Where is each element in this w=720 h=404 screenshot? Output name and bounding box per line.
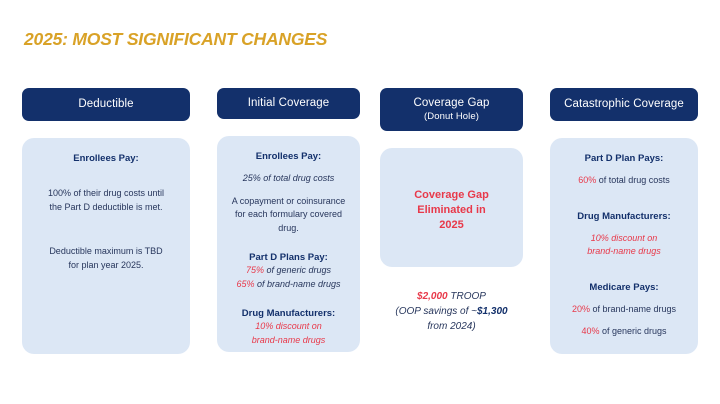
columns-container: Deductible Enrollees Pay: 100% of their … (0, 88, 720, 354)
spacer (558, 223, 690, 232)
cat-mfr-line-2: brand-name drugs (558, 245, 690, 259)
column-header-label: Deductible (78, 98, 133, 110)
troop-line: $2,000 TROOP (380, 289, 523, 304)
deductible-line-2: the Part D deductible is met. (30, 201, 182, 215)
section-title-drug-manufacturers: Drug Manufacturers: (225, 307, 352, 320)
cat-plan-total: 60% of total drug costs (558, 174, 690, 188)
coverage-gap-banner-line-2: Eliminated in (388, 203, 515, 218)
column-header-label: Initial Coverage (248, 97, 330, 109)
column-header-label: Coverage Gap (414, 97, 490, 109)
cat-medicare-brand: 20% of brand-name drugs (558, 303, 690, 317)
section-title-enrollees-pay: Enrollees Pay: (30, 152, 182, 165)
coverage-gap-footer: $2,000 TROOP (OOP savings of ~$1,300 fro… (380, 289, 523, 334)
pct-generic-text: of generic drugs (599, 326, 666, 336)
initial-enrollees-line-3: for each formulary covered (225, 208, 352, 222)
pct-generic-text: of generic drugs (264, 265, 331, 275)
spacer (30, 214, 182, 236)
pct-brand-value: 20% (572, 304, 590, 314)
spacer (225, 186, 352, 195)
spacer (558, 259, 690, 281)
column-header-label: Catastrophic Coverage (564, 98, 684, 110)
column-coverage-gap: Coverage Gap (Donut Hole) Coverage Gap E… (380, 88, 523, 334)
spacer (558, 165, 690, 174)
slide-title: 2025: MOST SIGNIFICANT CHANGES (24, 29, 327, 50)
troop-label: TROOP (448, 291, 486, 302)
spacer (30, 236, 182, 245)
pct-brand-text: of brand-name drugs (254, 279, 340, 289)
initial-enrollees-line-2: A copayment or coinsurance (225, 195, 352, 209)
initial-mfr-line-1: 10% discount on (225, 320, 352, 334)
pct-total-value: 60% (578, 175, 596, 185)
cat-medicare-generic: 40% of generic drugs (558, 325, 690, 339)
spacer (558, 316, 690, 325)
coverage-gap-banner-line-3: 2025 (388, 218, 515, 233)
section-title-medicare-pays: Medicare Pays: (558, 281, 690, 294)
initial-plans-brand: 65% of brand-name drugs (225, 278, 352, 292)
slide-canvas: 2025: MOST SIGNIFICANT CHANGES Deductibl… (0, 0, 720, 404)
spacer (558, 188, 690, 210)
pct-brand-value: 65% (236, 279, 254, 289)
cat-mfr-line-1: 10% discount on (558, 232, 690, 246)
spacer (225, 235, 352, 251)
column-header-initial-coverage[interactable]: Initial Coverage (217, 88, 360, 119)
oop-amount: $1,300 (477, 306, 508, 317)
column-body-deductible: Enrollees Pay: 100% of their drug costs … (22, 138, 190, 354)
deductible-line-1: 100% of their drug costs until (30, 187, 182, 201)
column-header-sublabel: (Donut Hole) (384, 111, 519, 122)
column-initial-coverage: Initial Coverage Enrollees Pay: 25% of t… (217, 88, 360, 352)
section-title-drug-manufacturers: Drug Manufacturers: (558, 210, 690, 223)
initial-enrollees-line-4: drug. (225, 222, 352, 236)
section-title-part-d-plan-pays: Part D Plan Pays: (558, 152, 690, 165)
section-title-enrollees-pay: Enrollees Pay: (225, 150, 352, 163)
column-body-catastrophic-coverage: Part D Plan Pays: 60% of total drug cost… (550, 138, 698, 354)
section-title-part-d-plans-pay: Part D Plans Pay: (225, 251, 352, 264)
column-body-coverage-gap: Coverage Gap Eliminated in 2025 (380, 148, 523, 267)
initial-plans-generic: 75% of generic drugs (225, 264, 352, 278)
oop-prefix: (OOP savings of ~ (395, 306, 477, 317)
column-body-initial-coverage: Enrollees Pay: 25% of total drug costs A… (217, 136, 360, 352)
spacer (225, 163, 352, 172)
troop-amount: $2,000 (417, 291, 448, 302)
column-deductible: Deductible Enrollees Pay: 100% of their … (22, 88, 190, 354)
coverage-gap-banner-line-1: Coverage Gap (388, 188, 515, 203)
spacer (30, 165, 182, 187)
initial-enrollees-line-1: 25% of total drug costs (225, 172, 352, 186)
pct-total-text: of total drug costs (596, 175, 670, 185)
column-header-deductible[interactable]: Deductible (22, 88, 190, 121)
oop-suffix-line: from 2024) (380, 319, 523, 334)
deductible-line-3: Deductible maximum is TBD (30, 245, 182, 259)
oop-line: (OOP savings of ~$1,300 (380, 304, 523, 319)
column-catastrophic-coverage: Catastrophic Coverage Part D Plan Pays: … (550, 88, 698, 354)
pct-generic-value: 40% (581, 326, 599, 336)
deductible-line-4: for plan year 2025. (30, 259, 182, 273)
pct-generic-value: 75% (246, 265, 264, 275)
spacer (225, 291, 352, 307)
column-header-catastrophic-coverage[interactable]: Catastrophic Coverage (550, 88, 698, 121)
coverage-gap-banner: Coverage Gap Eliminated in 2025 (388, 162, 515, 233)
column-header-coverage-gap[interactable]: Coverage Gap (Donut Hole) (380, 88, 523, 131)
pct-brand-text: of brand-name drugs (590, 304, 676, 314)
initial-mfr-line-2: brand-name drugs (225, 334, 352, 348)
spacer (558, 294, 690, 303)
